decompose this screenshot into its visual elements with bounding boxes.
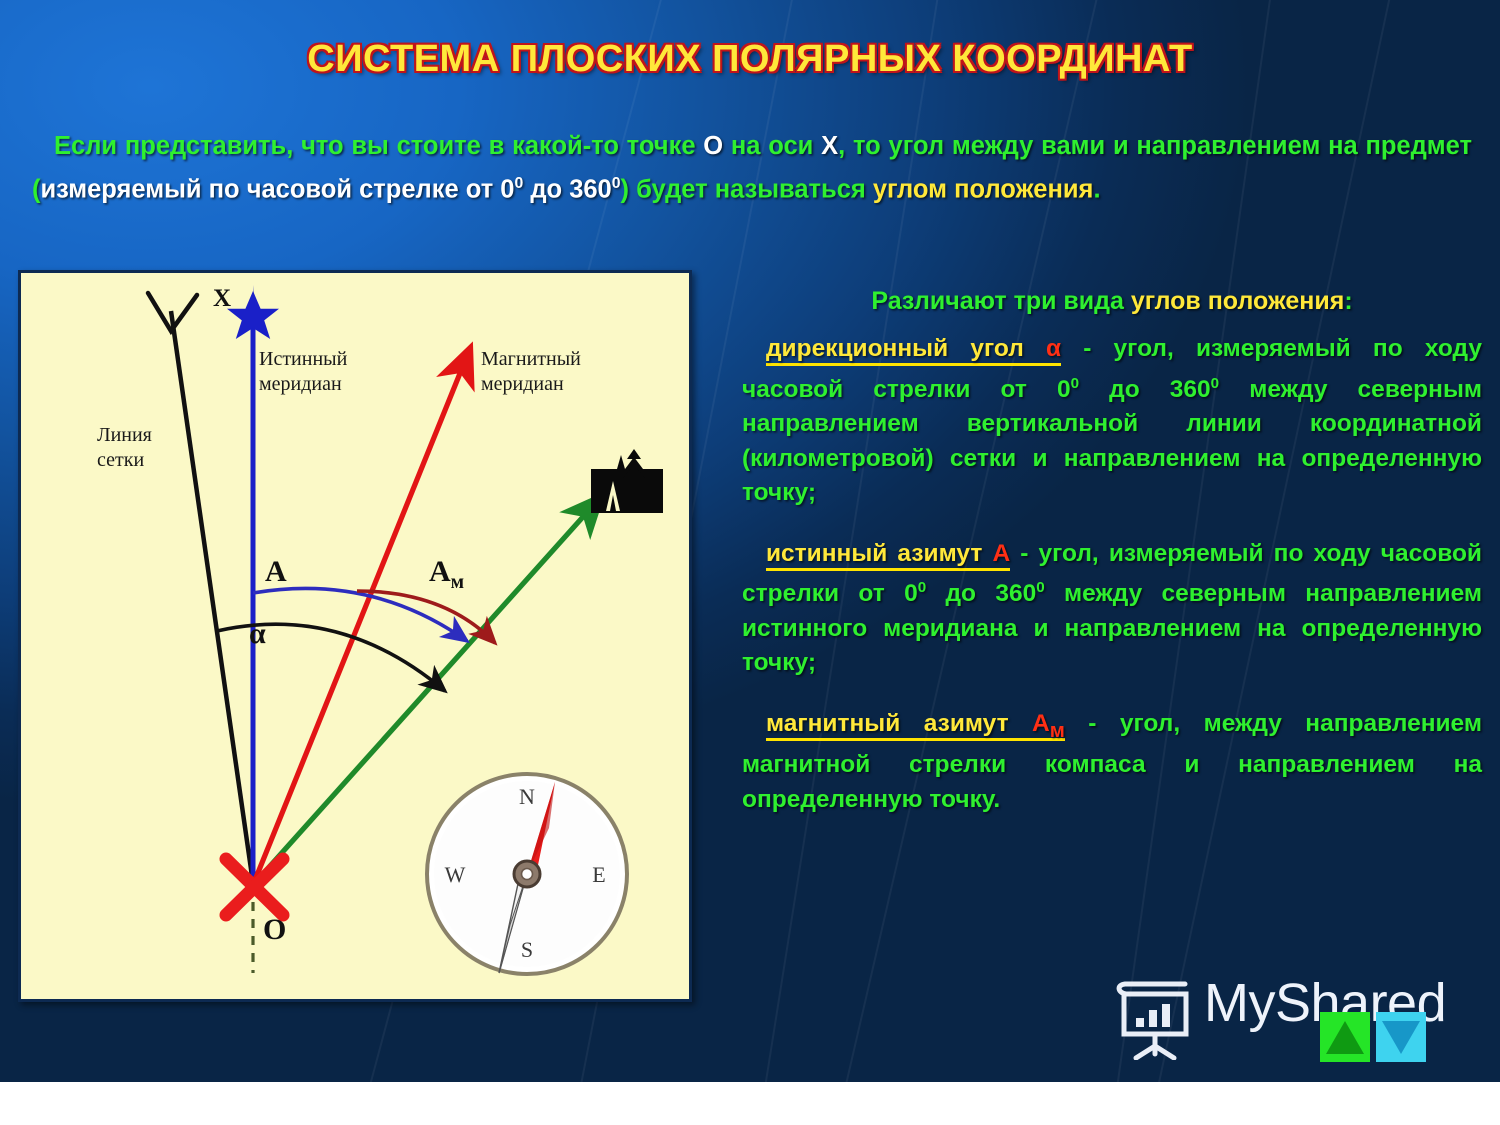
degree-sup-0: 0 [1071,375,1079,392]
degree-sup-360: 0 [1036,579,1044,596]
header-bold-text: углов положения [1131,287,1344,315]
diagram-panel: N E S W Линия сетки Истинный меридиан Ма… [18,270,692,1002]
compass-north-label: N [519,784,535,809]
term-true-azimuth: истинный азимут А [766,540,1010,571]
definition-magnetic-azimuth: магнитный азимут Ам - угол, между направ… [742,707,1482,817]
true-meridian-label: Истинный меридиан [259,347,347,397]
angle-am-label: Ам [429,555,464,594]
angle-types-header: Различают три вида углов положения: [742,284,1482,318]
term-symbol-a: А [1032,710,1050,737]
compass-east-label: E [592,862,605,887]
magnetic-meridian-label: Магнитный меридиан [481,347,581,397]
intro-text-part5: . [1093,176,1100,204]
intro-axis-x: Х [821,132,838,160]
slide-canvas: СИСТЕМА ПЛОСКИХ ПОЛЯРНЫХ КООРДИНАТ Если … [0,0,1500,1082]
term-label: дирекционный угол [766,335,1046,362]
blue-star-icon [227,285,279,349]
intro-measure-bold: измеряемый по часовой стрелке от 0 [41,176,515,204]
origin-label: О [263,913,286,947]
angle-alpha-label: α [249,617,266,651]
term-symbol-am: Ам [1032,710,1065,737]
intro-text-part2: на оси [723,132,821,160]
term-magnetic-azimuth: магнитный азимут Ам [766,710,1065,741]
cyan-triangle-down-icon[interactable] [1376,1012,1426,1062]
green-triangle-up-icon[interactable] [1320,1012,1370,1062]
intro-point-o: О [703,132,723,160]
intro-paragraph: Если представить, что вы стоите в какой-… [32,128,1472,209]
term-symbol-subscript: м [1050,720,1065,742]
term-label: магнитный азимут [766,710,1032,737]
term-label: истинный азимут [766,540,992,567]
definition-directional-angle: дирекционный угол α - угол, измеряемый п… [742,332,1482,511]
compass-west-label: W [445,862,466,887]
definition-true-azimuth: истинный азимут А - угол, измеряемый по … [742,537,1482,681]
presentation-chart-board-icon [1114,980,1198,1060]
header-colon: : [1344,287,1352,315]
polar-coordinate-diagram: N E S W [21,273,689,999]
intro-text-part4: ) будет называться [621,176,873,204]
bottom-white-strip [0,1082,1500,1125]
myshared-logo[interactable]: MyShared [1108,968,1488,1064]
intro-deg-zero: 0 [514,175,523,192]
term-symbol-a: А [992,540,1010,567]
definition-body-2: до 360 [926,580,1036,607]
intro-text-part1: Если представить, что вы стоите в какой-… [54,132,703,160]
definition-body-2: до 360 [1079,376,1211,403]
term-directional-angle: дирекционный угол α [766,335,1061,366]
degree-sup-0: 0 [918,579,926,596]
grid-line-label: Линия сетки [97,423,152,473]
campsite-tent-tree-icon [591,449,663,513]
term-symbol-alpha: α [1046,335,1061,362]
header-plain-text: Различают три вида [871,287,1131,315]
axis-x-label: Х [213,285,231,313]
degree-sup-360: 0 [1211,375,1219,392]
magnetic-meridian-vector [253,351,469,885]
intro-term-highlight: углом положения [873,176,1094,204]
page-title: СИСТЕМА ПЛОСКИХ ПОЛЯРНЫХ КООРДИНАТ [0,38,1500,81]
angle-am-main: А [429,555,451,588]
intro-measure-bold2: до 360 [523,176,611,204]
angle-a-label: А [265,555,287,589]
angle-am-subscript: м [451,571,464,593]
grid-line-vector [148,293,253,883]
explanation-column: Различают три вида углов положения: дире… [742,284,1482,843]
compass-south-label: S [521,937,533,962]
intro-deg-360: 0 [612,175,621,192]
